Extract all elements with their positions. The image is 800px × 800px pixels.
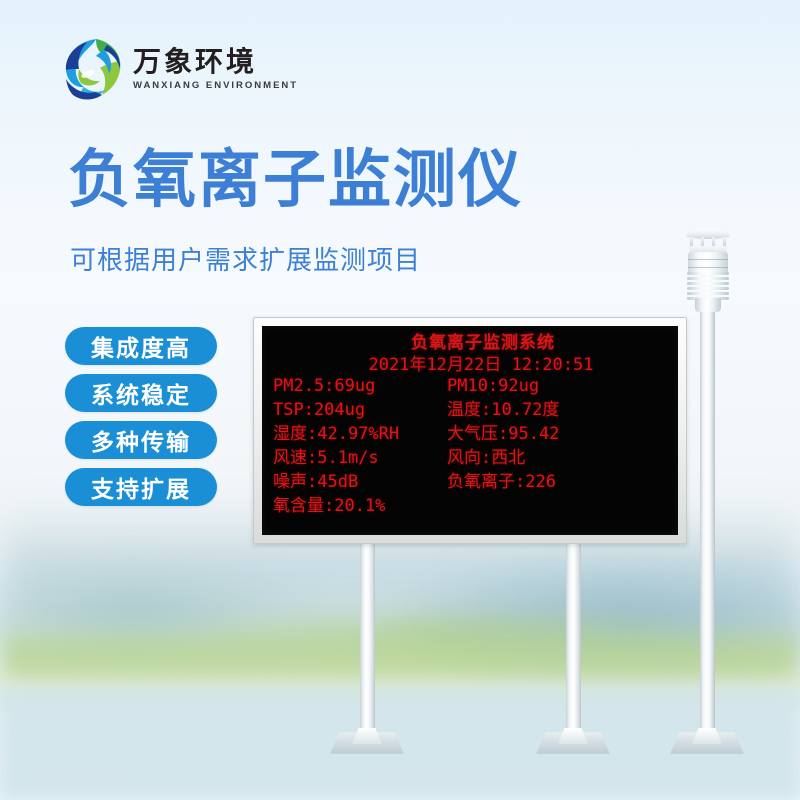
led-reading-oxygen: 氧含量:20.1% (273, 494, 447, 518)
background-shoreline (0, 682, 800, 708)
led-reading-winddir: 风向:西北 (447, 446, 672, 470)
led-reading-pm10: PM10:92ug (447, 374, 672, 398)
feature-badge: 系统稳定 (65, 374, 217, 412)
feature-badge-label: 集成度高 (91, 329, 191, 363)
feature-badge: 多种传输 (65, 421, 217, 459)
weather-station-mast (700, 300, 715, 740)
pole-base-hub (692, 728, 722, 744)
page-subtitle: 可根据用户需求扩展监测项目 (70, 240, 421, 277)
feature-badge-label: 系统稳定 (91, 376, 191, 410)
feature-badge: 支持扩展 (65, 468, 217, 506)
page-title: 负氧离子监测仪 (68, 148, 523, 211)
brand-name-en: WANXIANG ENVIRONMENT (133, 81, 298, 91)
feature-badge-label: 支持扩展 (91, 470, 191, 504)
pole-base-hub (352, 728, 382, 744)
product-poster: 万象环境 WANXIANG ENVIRONMENT 负氧离子监测仪 可根据用户需… (0, 0, 800, 800)
led-reading-windspeed: 风速:5.1m/s (273, 446, 447, 470)
background-meadow-core (120, 600, 760, 670)
led-billboard: 负氧离子监测系统 2021年12月22日 12:20:51 PM2.5:69ug… (253, 317, 687, 544)
sensor-radiation-shield (687, 272, 729, 300)
led-reading-anion: 负氧离子:226 (447, 470, 672, 494)
feature-badge-label: 多种传输 (91, 423, 191, 457)
billboard-pole-right (566, 540, 581, 742)
led-datetime: 2021年12月22日 12:20:51 (262, 350, 678, 375)
led-screen: 负氧离子监测系统 2021年12月22日 12:20:51 PM2.5:69ug… (262, 326, 678, 535)
led-readings-grid: PM2.5:69ug PM10:92ug TSP:204ug 温度:10.72度… (273, 374, 672, 518)
brand-name-cn: 万象环境 (133, 48, 298, 76)
billboard-pole-left (360, 540, 375, 742)
sensor-body (688, 252, 728, 274)
ultrasonic-weather-sensor-icon (676, 228, 740, 308)
sensor-neck (695, 298, 721, 312)
led-reading-pressure: 大气压:95.42 (447, 422, 672, 446)
led-reading-humidity: 湿度:42.97%RH (273, 422, 447, 446)
led-reading-temp: 温度:10.72度 (447, 398, 672, 422)
feature-badge: 集成度高 (65, 327, 217, 365)
background-meadow (0, 620, 800, 710)
led-reading-noise: 噪声:45dB (273, 470, 447, 494)
brand-logo: 万象环境 WANXIANG ENVIRONMENT (62, 36, 298, 102)
background-hill-right (330, 545, 800, 680)
background-hill-left (0, 555, 370, 675)
feature-badge-list: 集成度高 系统稳定 多种传输 支持扩展 (65, 327, 217, 506)
led-reading-empty (447, 494, 672, 518)
led-reading-pm25: PM2.5:69ug (273, 374, 447, 398)
led-reading-tsp: TSP:204ug (273, 398, 447, 422)
pole-base-hub (558, 728, 588, 744)
globe-swirl-logo-icon (62, 36, 124, 102)
